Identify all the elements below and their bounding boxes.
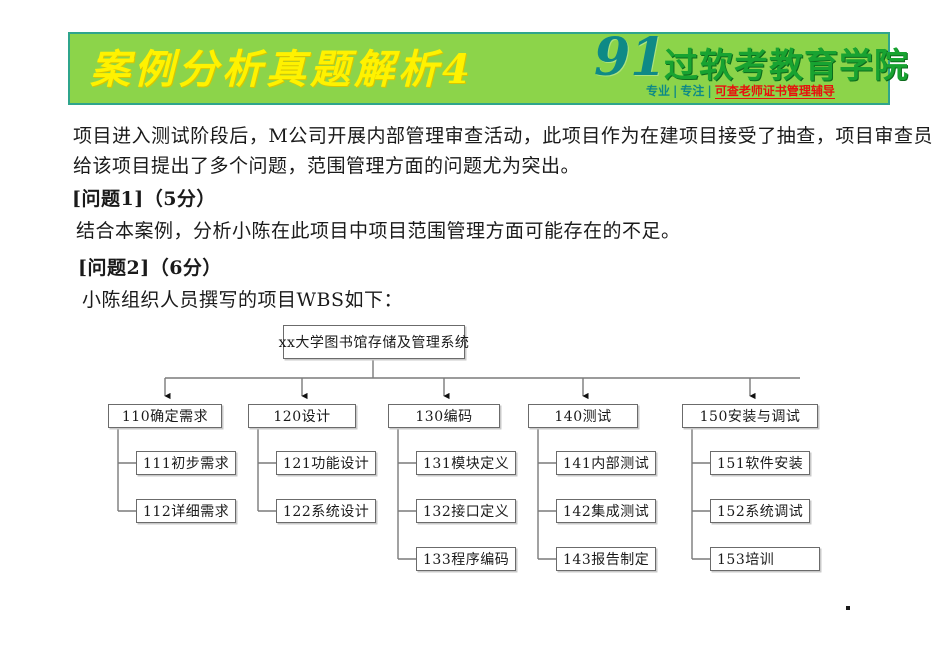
wbs-node-130: 130编码 — [388, 404, 500, 428]
wbs-node-112: 112详细需求 — [136, 499, 236, 523]
brand-logo: 91 过软考教育学院 专业|专注|可查老师证书管理辅导 — [586, 34, 886, 105]
wbs-node-122: 122系统设计 — [276, 499, 376, 523]
logo-sub-item-3: 可查老师证书管理辅导 — [715, 84, 835, 99]
wbs-node-133: 133程序编码 — [416, 547, 516, 571]
logo-subtitle: 专业|专注|可查老师证书管理辅导 — [646, 84, 835, 98]
wbs-node-121: 121功能设计 — [276, 451, 376, 475]
logo-sub-separator-2: | — [704, 84, 714, 98]
wbs-node-140: 140测试 — [528, 404, 638, 428]
wbs-node-153: 153培训 — [710, 547, 820, 571]
question-2-text: 小陈组织人员撰写的项目WBS如下： — [82, 285, 403, 315]
wbs-node-120: 120设计 — [248, 404, 356, 428]
wbs-node-151: 151软件安装 — [710, 451, 810, 475]
wbs-node-131: 131模块定义 — [416, 451, 516, 475]
wbs-node-110: 110确定需求 — [108, 404, 222, 428]
wbs-node-141: 141内部测试 — [556, 451, 656, 475]
wbs-root-node: xx大学图书馆存储及管理系统 — [283, 325, 465, 359]
wbs-node-142: 142集成测试 — [556, 499, 656, 523]
wbs-node-111: 111初步需求 — [136, 451, 236, 475]
question-1-heading: [问题1]（5分） — [72, 184, 216, 214]
wbs-node-152: 152系统调试 — [710, 499, 810, 523]
logo-number: 91 — [594, 30, 666, 86]
logo-sub-separator-1: | — [670, 84, 680, 98]
question-1-text: 结合本案例，分析小陈在此项目中项目范围管理方面可能存在的不足。 — [76, 216, 681, 246]
title-banner: 案例分析真题解析4 91 过软考教育学院 专业|专注|可查老师证书管理辅导 — [68, 32, 890, 105]
wbs-node-132: 132接口定义 — [416, 499, 516, 523]
logo-sub-item-2: 专注 — [680, 84, 704, 98]
wbs-node-143: 143报告制定 — [556, 547, 656, 571]
intro-paragraph: 项目进入测试阶段后，M公司开展内部管理审查活动，此项目作为在建项目接受了抽查，项… — [73, 121, 933, 181]
page-title: 案例分析真题解析4 — [90, 38, 590, 102]
logo-sub-item-1: 专业 — [646, 84, 670, 98]
wbs-node-150: 150安装与调试 — [682, 404, 818, 428]
footer-dot-mark — [846, 606, 850, 610]
question-2-heading: [问题2]（6分） — [78, 253, 222, 283]
logo-main-text: 过软考教育学院 — [664, 38, 909, 87]
